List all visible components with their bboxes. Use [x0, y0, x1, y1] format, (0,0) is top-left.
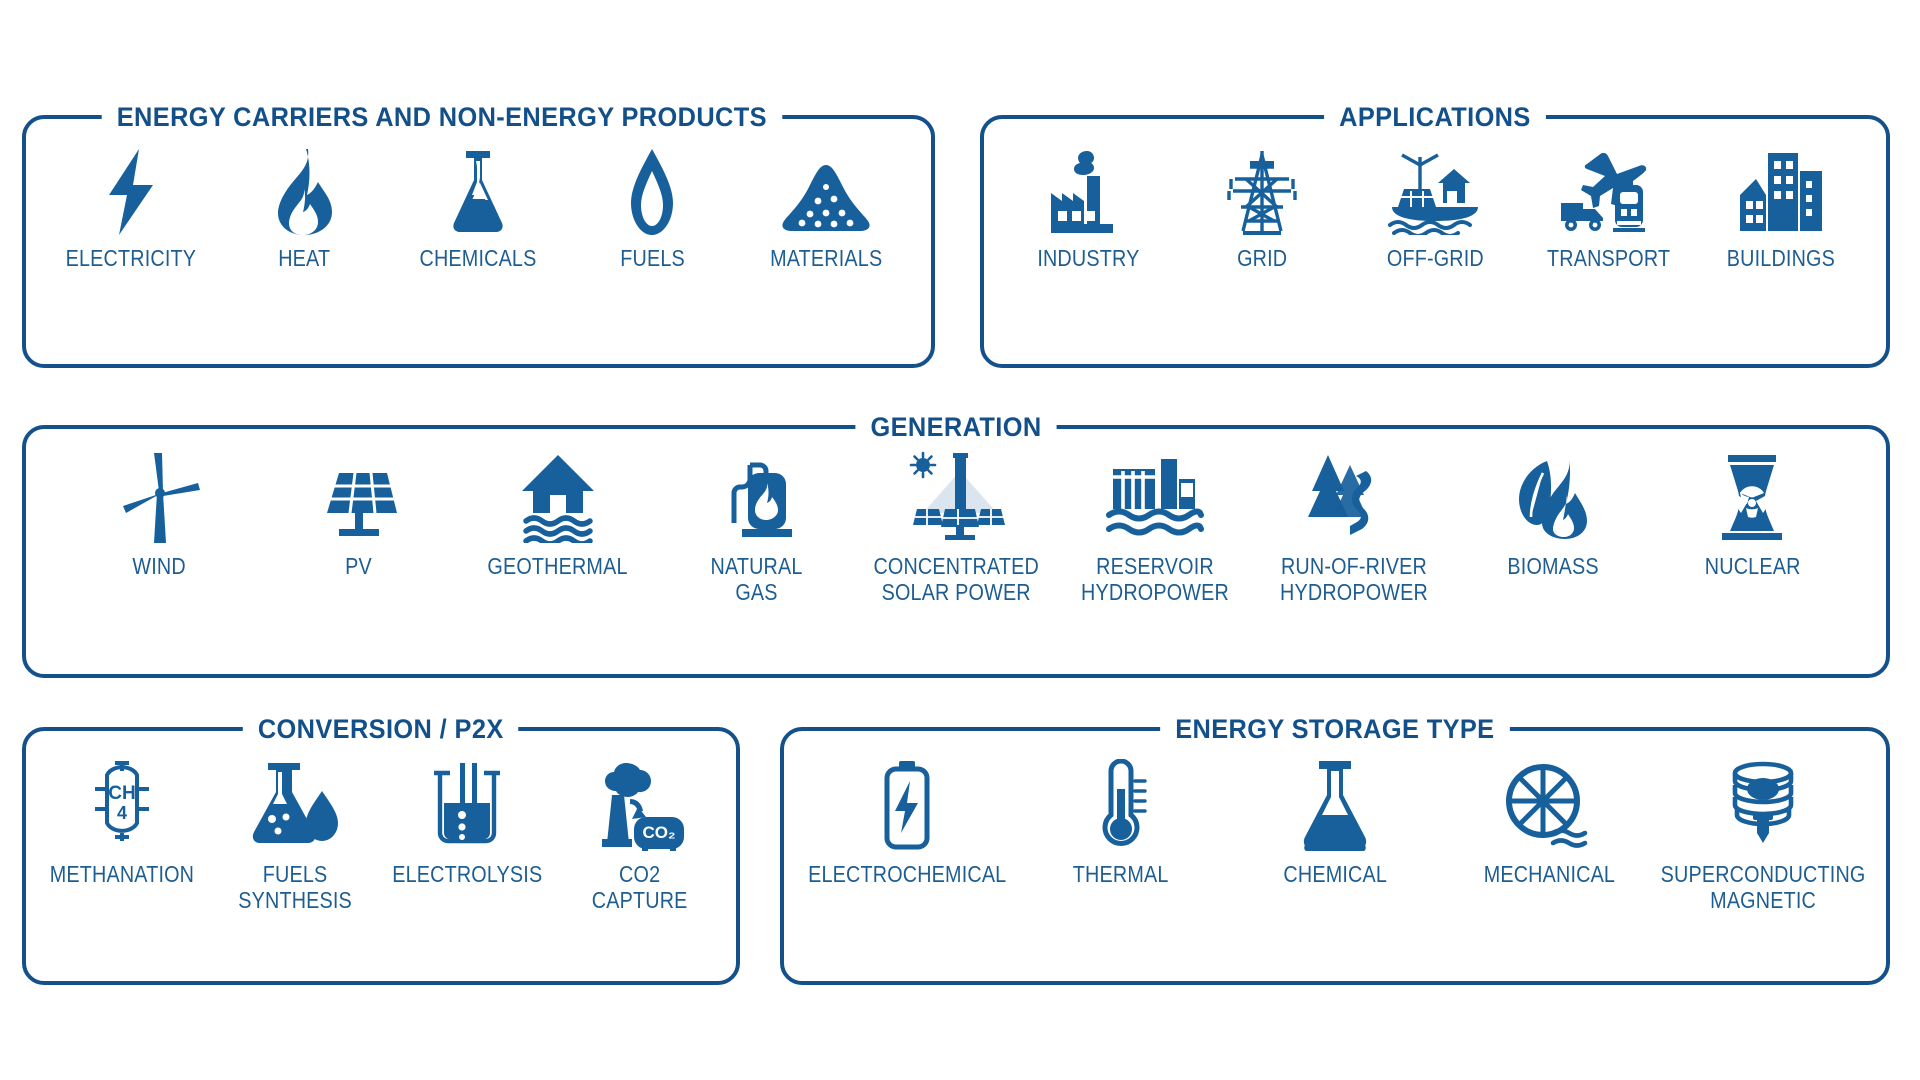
- item-buildings[interactable]: BUILDINGS: [1697, 149, 1865, 271]
- item-heat[interactable]: HEAT: [220, 149, 390, 271]
- item-label: MATERIALS: [770, 245, 882, 271]
- item-label: BIOMASS: [1508, 553, 1599, 579]
- powder-pile-icon: [778, 149, 874, 235]
- diagram-canvas: ENERGY CARRIERS AND NON-ENERGY PRODUCTS …: [0, 0, 1920, 1080]
- flask-droplet-icon: [248, 759, 342, 851]
- co2-tank-label: CO₂: [642, 823, 675, 842]
- cooling-tower-icon: [1712, 451, 1792, 543]
- item-chemical[interactable]: CHEMICAL: [1230, 759, 1440, 887]
- panel-items-storage: ELECTROCHEMICAL THERMAL: [784, 731, 1886, 981]
- item-off-grid[interactable]: OFF-GRID: [1351, 149, 1519, 271]
- battery-icon: [877, 759, 937, 851]
- item-label: ELECTROCHEMICAL: [808, 861, 1006, 887]
- item-label: CONCENTRATED SOLAR POWER: [873, 553, 1038, 605]
- item-label: RESERVOIR HYDROPOWER: [1081, 553, 1229, 605]
- leaf-flame-icon: [1507, 451, 1599, 543]
- item-label: FUELS: [620, 245, 685, 271]
- item-label: CO2 CAPTURE: [592, 861, 688, 913]
- methane-formula-4: 4: [117, 803, 127, 823]
- gas-cylinder-icon: [720, 451, 794, 543]
- panel-generation: GENERATION WIND: [22, 425, 1890, 678]
- buildings-icon: [1734, 149, 1828, 235]
- item-pv[interactable]: PV: [275, 451, 443, 579]
- thermometer-icon: [1089, 759, 1153, 851]
- item-label: METHANATION: [50, 861, 194, 887]
- item-label: OFF-GRID: [1386, 245, 1483, 271]
- item-industry[interactable]: INDUSTRY: [1005, 149, 1173, 271]
- item-label: GEOTHERMAL: [488, 553, 628, 579]
- geothermal-house-icon: [516, 451, 600, 543]
- item-label: NUCLEAR: [1705, 553, 1801, 579]
- item-label: ELECTRICITY: [66, 245, 196, 271]
- item-label: HEAT: [279, 245, 331, 271]
- item-materials[interactable]: MATERIALS: [741, 149, 911, 271]
- concentrated-solar-power-icon: [901, 451, 1011, 543]
- item-geothermal[interactable]: GEOTHERMAL: [474, 451, 642, 579]
- river-trees-icon: [1302, 451, 1406, 543]
- item-label: CHEMICAL: [1283, 861, 1387, 887]
- transmission-tower-icon: [1219, 149, 1305, 235]
- item-label: THERMAL: [1073, 861, 1169, 887]
- superconducting-coil-icon: [1717, 759, 1809, 851]
- item-label: FUELS SYNTHESIS: [238, 861, 352, 913]
- item-wind[interactable]: WIND: [76, 451, 244, 579]
- solar-panel-icon: [317, 451, 401, 543]
- item-mechanical[interactable]: MECHANICAL: [1444, 759, 1654, 887]
- item-concentrated-solar-power[interactable]: CONCENTRATED SOLAR POWER: [872, 451, 1040, 605]
- transport-icon: [1553, 149, 1663, 235]
- item-label: WIND: [133, 553, 186, 579]
- item-label: TRANSPORT: [1547, 245, 1670, 271]
- panel-items-conversion: CH 4 METHANATION FUELS SYNTHESIS: [26, 731, 736, 981]
- item-nuclear[interactable]: NUCLEAR: [1668, 451, 1836, 579]
- factory-icon: [1043, 149, 1135, 235]
- item-label: CHEMICALS: [420, 245, 537, 271]
- electrolysis-beaker-icon: [424, 759, 510, 851]
- item-natural-gas[interactable]: NATURAL GAS: [673, 451, 841, 605]
- methane-formula-ch: CH: [109, 783, 136, 804]
- item-electrolysis[interactable]: ELECTROLYSIS: [385, 759, 550, 887]
- item-label: INDUSTRY: [1038, 245, 1140, 271]
- item-label: ELECTROLYSIS: [392, 861, 542, 887]
- item-label: SUPERCONDUCTING MAGNETIC: [1661, 861, 1866, 913]
- flame-icon: [274, 149, 336, 235]
- item-co2-capture[interactable]: CO₂ CO2 CAPTURE: [557, 759, 722, 913]
- item-thermal[interactable]: THERMAL: [1016, 759, 1226, 887]
- wind-turbine-icon: [120, 451, 200, 543]
- panel-items-generation: WIND PV: [26, 429, 1886, 674]
- item-fuels-synthesis[interactable]: FUELS SYNTHESIS: [212, 759, 377, 913]
- item-label: BUILDINGS: [1727, 245, 1835, 271]
- item-label: NATURAL GAS: [711, 553, 803, 605]
- item-biomass[interactable]: BIOMASS: [1469, 451, 1637, 579]
- methane-reactor-icon: CH 4: [79, 759, 165, 851]
- item-grid[interactable]: GRID: [1178, 149, 1346, 271]
- panel-energy-storage-type: ENERGY STORAGE TYPE ELECTROCHEMICAL: [780, 727, 1890, 985]
- item-transport[interactable]: TRANSPORT: [1524, 149, 1692, 271]
- item-electrochemical[interactable]: ELECTROCHEMICAL: [802, 759, 1012, 887]
- erlenmeyer-flask-icon: [446, 149, 510, 235]
- item-run-of-river-hydropower[interactable]: RUN-OF-RIVER HYDROPOWER: [1270, 451, 1438, 605]
- item-superconducting-magnetic[interactable]: SUPERCONDUCTING MAGNETIC: [1658, 759, 1868, 913]
- water-wheel-icon: [1499, 759, 1599, 851]
- gas-flame-icon: [627, 149, 677, 235]
- lightning-bolt-icon: [103, 149, 159, 235]
- panel-energy-carriers: ENERGY CARRIERS AND NON-ENERGY PRODUCTS …: [22, 115, 935, 368]
- panel-items-applications: INDUSTRY G: [984, 119, 1886, 364]
- item-fuels[interactable]: FUELS: [567, 149, 737, 271]
- item-chemicals[interactable]: CHEMICALS: [393, 149, 563, 271]
- panel-items-energy-carriers: ELECTRICITY HEAT CHEMICALS: [26, 119, 931, 364]
- item-reservoir-hydropower[interactable]: RESERVOIR HYDROPOWER: [1071, 451, 1239, 605]
- item-label: PV: [345, 553, 372, 579]
- item-electricity[interactable]: ELECTRICITY: [46, 149, 216, 271]
- dam-icon: [1103, 451, 1207, 543]
- item-label: MECHANICAL: [1483, 861, 1614, 887]
- panel-applications: APPLICATIONS INDUSTRY: [980, 115, 1890, 368]
- item-label: GRID: [1237, 245, 1287, 271]
- item-methanation[interactable]: CH 4 METHANATION: [40, 759, 205, 887]
- offgrid-island-icon: [1380, 149, 1490, 235]
- panel-conversion-p2x: CONVERSION / P2X CH 4 ME: [22, 727, 740, 985]
- co2-capture-icon: CO₂: [590, 759, 690, 851]
- chemical-flask-icon: [1299, 759, 1371, 851]
- item-label: RUN-OF-RIVER HYDROPOWER: [1280, 553, 1428, 605]
